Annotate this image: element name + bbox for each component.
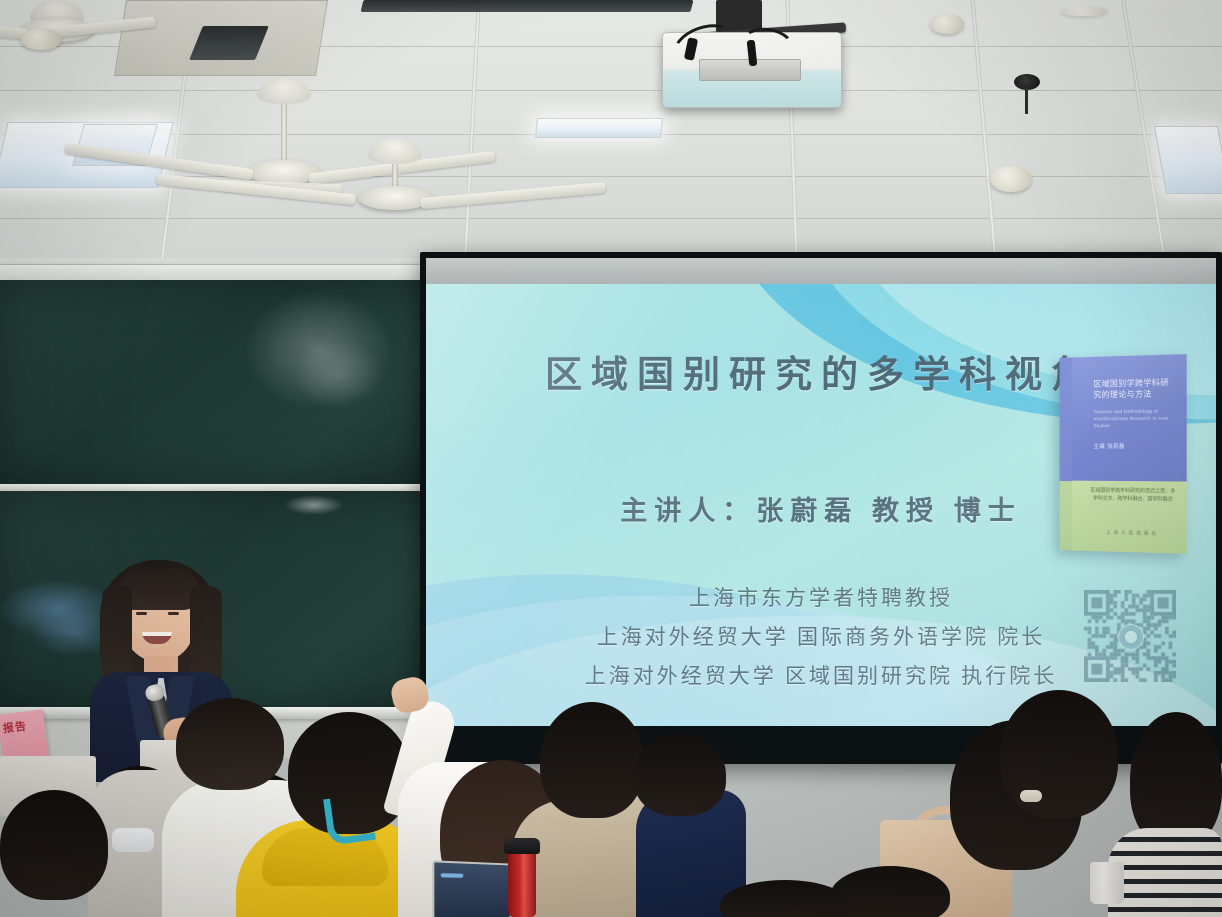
- face-mask: [112, 828, 154, 852]
- audience-head: [540, 702, 644, 818]
- presenter-hair-side: [102, 586, 132, 686]
- presenter-eye: [136, 612, 147, 615]
- ceiling: [0, 0, 1222, 262]
- lanyard: [323, 793, 376, 846]
- ceiling-beam: [361, 0, 694, 12]
- paper-cup: [1090, 862, 1124, 904]
- presenter-eye: [168, 612, 179, 615]
- fluorescent-light-panel: [1154, 126, 1222, 194]
- audience-head: [176, 698, 284, 790]
- book-front-cover: 区域国别学跨学科研究的理论与方法 Theories and Methodolog…: [1072, 354, 1187, 482]
- vent-slot: [189, 26, 269, 60]
- smoke-detector: [20, 28, 62, 50]
- pink-sign-text: 报告: [0, 709, 45, 735]
- hook-wire: [1025, 86, 1028, 114]
- presentation-slide: 区域国别研究的多学科视角 主讲人：张蔚磊 教授 博士 上海市东方学者特聘教授 上…: [426, 284, 1216, 726]
- book-cover-image: 区域国别学跨学科研究的理论与方法 Theories and Methodolog…: [1060, 354, 1187, 554]
- lecture-hall-photo: 区域国别研究的多学科视角 主讲人：张蔚磊 教授 博士 上海市东方学者特聘教授 上…: [0, 0, 1222, 917]
- projection-screen: 区域国别研究的多学科视角 主讲人：张蔚磊 教授 博士 上海市东方学者特聘教授 上…: [420, 252, 1222, 764]
- laptop: [432, 860, 511, 917]
- book-belly-band: 区域国别学跨学科研究的范式之思：多学科交叉、跨学科融合、超学科整合 上 海 人 …: [1072, 481, 1187, 554]
- smoke-detector: [990, 166, 1032, 192]
- qr-code: [1084, 590, 1176, 682]
- audience-head: [0, 790, 108, 900]
- red-water-bottle: [508, 848, 536, 917]
- smoke-detector: [930, 14, 964, 34]
- ceiling-fixture: [1060, 6, 1108, 16]
- pink-sign: 报告: [0, 709, 49, 762]
- screen-top-bar: [426, 258, 1216, 284]
- student-striped-shirt: [1108, 828, 1222, 917]
- book-spine: [1060, 357, 1072, 550]
- bottle-cap: [504, 838, 540, 854]
- book-publisher: 上 海 人 民 出 版 社: [1086, 529, 1179, 537]
- book-subtitle-en: Theories and Methodology of Interdiscipl…: [1093, 407, 1174, 429]
- ceiling-fan: [310, 150, 480, 240]
- book-title: 区域国别学跨学科研究的理论与方法: [1093, 377, 1176, 401]
- book-author: 主编 张蔚磊: [1093, 442, 1125, 450]
- chalkboard-divider: [0, 484, 446, 491]
- qr-center-logo: [1118, 624, 1144, 650]
- book-band-text: 区域国别学跨学科研究的范式之思：多学科交叉、跨学科融合、超学科整合: [1090, 487, 1177, 504]
- hair-clip: [1020, 790, 1042, 802]
- audience-head: [1000, 690, 1118, 818]
- audience-head: [634, 734, 726, 816]
- chalkboard-upper: [0, 280, 446, 484]
- fluorescent-light-panel: [535, 118, 663, 138]
